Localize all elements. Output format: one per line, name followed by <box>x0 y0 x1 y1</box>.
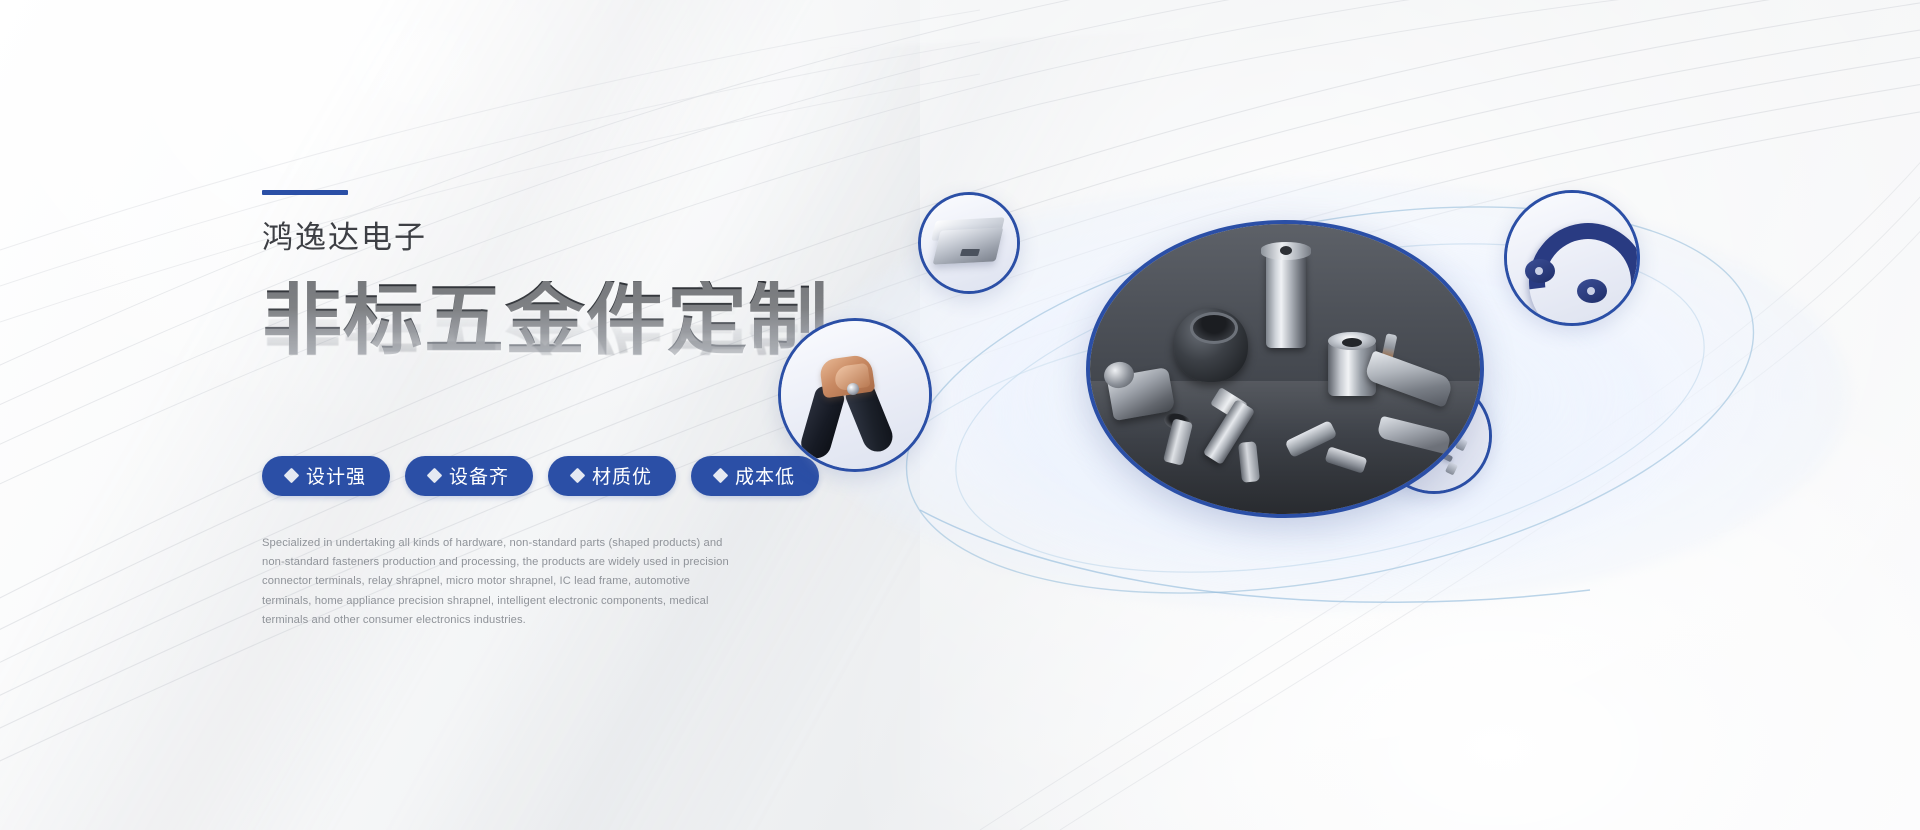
diamond-icon <box>570 468 586 484</box>
node-precision-metal-hardware-parts[interactable] <box>1086 220 1484 518</box>
feature-badge-equipment[interactable]: 设备齐 <box>405 456 533 496</box>
hero-banner: 鸿逸达电子 非标五金件定制 非标五金件定制 设计强 设备齐 材质优 成本低 <box>0 0 1920 830</box>
part-black-bushing-bore <box>1190 312 1238 344</box>
feature-badge-label: 设备齐 <box>449 462 509 489</box>
node-metal-enclosure-box[interactable] <box>918 192 1020 294</box>
diamond-icon <box>713 468 729 484</box>
part-steel-cylinder-bore <box>1280 246 1292 255</box>
clamp-pivot-rivet <box>847 383 859 395</box>
feature-badge-label: 材质优 <box>592 462 652 489</box>
product-showcase <box>900 120 1900 680</box>
feature-badge-material[interactable]: 材质优 <box>548 456 676 496</box>
description-text: Specialized in undertaking all kinds of … <box>262 534 734 630</box>
diamond-icon <box>284 468 300 484</box>
feature-badge-label: 设计强 <box>306 462 366 489</box>
node-copper-battery-clamp[interactable] <box>778 318 932 472</box>
part-chrome-socket-bore <box>1342 338 1362 347</box>
clip-hole-left <box>1535 267 1543 275</box>
feature-badge-design[interactable]: 设计强 <box>262 456 390 496</box>
enclosure-port-slot <box>960 249 980 256</box>
enclosure-body <box>933 227 1004 264</box>
accent-bar <box>262 190 348 195</box>
diamond-icon <box>427 468 443 484</box>
clip-hole-right <box>1587 287 1595 295</box>
node-blue-retaining-clip[interactable] <box>1504 190 1640 326</box>
part-steel-cylinder <box>1266 252 1306 348</box>
